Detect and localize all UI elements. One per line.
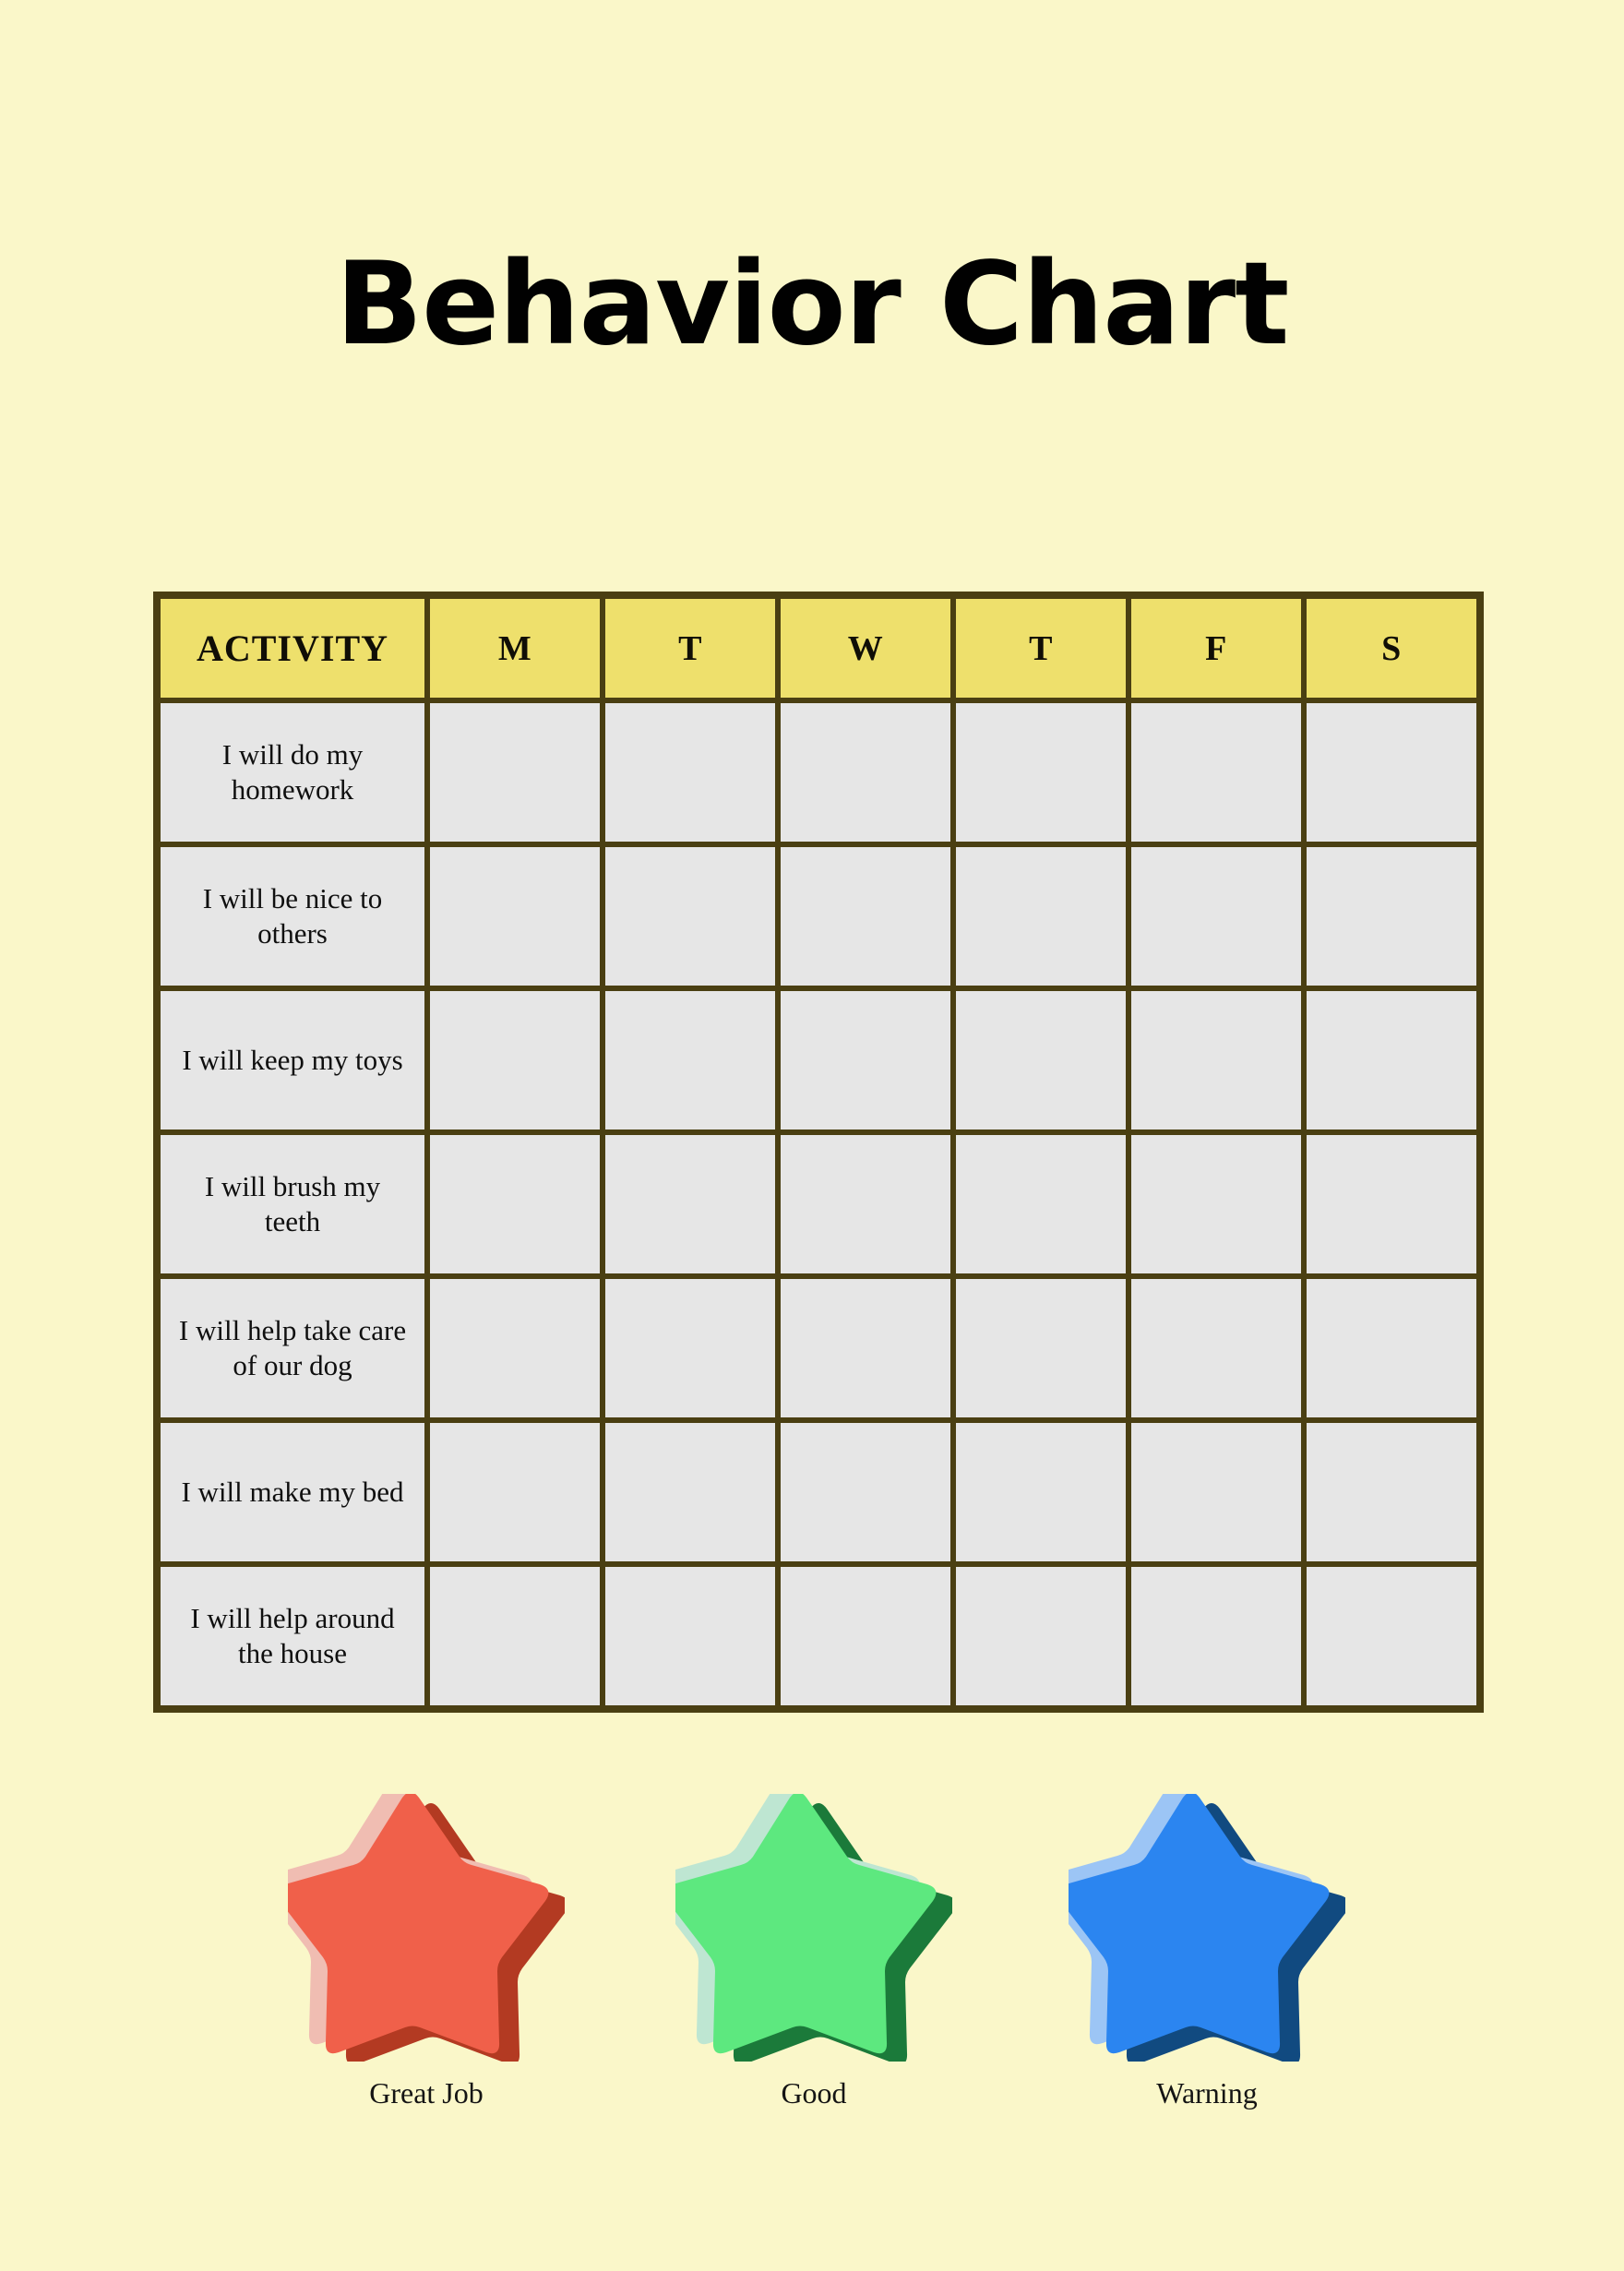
checkbox-cell-thu[interactable]	[953, 844, 1128, 988]
checkbox-cell-fri[interactable]	[1128, 1276, 1304, 1420]
table-row: I will brush my teeth	[158, 1132, 1479, 1276]
table-header-row: ACTIVITY M T W T F S	[158, 596, 1479, 700]
star-icon	[1069, 1794, 1345, 2062]
column-header-tuesday: T	[603, 596, 778, 700]
checkbox-cell-fri[interactable]	[1128, 1564, 1304, 1708]
checkbox-cell-thu[interactable]	[953, 1132, 1128, 1276]
checkbox-cell-fri[interactable]	[1128, 1132, 1304, 1276]
star-icon	[288, 1794, 565, 2062]
checkbox-cell-wed[interactable]	[778, 988, 953, 1132]
checkbox-cell-fri[interactable]	[1128, 844, 1304, 988]
checkbox-cell-sat[interactable]	[1304, 700, 1479, 844]
activity-label: I will help take care of our dog	[158, 1276, 427, 1420]
checkbox-cell-wed[interactable]	[778, 1564, 953, 1708]
column-header-wednesday: W	[778, 596, 953, 700]
behavior-chart-page: Behavior Chart ACTIVITY M T W T F S	[0, 0, 1624, 2271]
column-header-saturday: S	[1304, 596, 1479, 700]
checkbox-cell-thu[interactable]	[953, 1420, 1128, 1564]
checkbox-cell-fri[interactable]	[1128, 988, 1304, 1132]
checkbox-cell-fri[interactable]	[1128, 1420, 1304, 1564]
checkbox-cell-fri[interactable]	[1128, 700, 1304, 844]
column-header-friday: F	[1128, 596, 1304, 700]
checkbox-cell-tue[interactable]	[603, 988, 778, 1132]
checkbox-cell-sat[interactable]	[1304, 988, 1479, 1132]
legend-item-good: Good	[648, 1794, 980, 2108]
checkbox-cell-sat[interactable]	[1304, 1276, 1479, 1420]
legend-label: Warning	[1041, 2078, 1373, 2108]
checkbox-cell-mon[interactable]	[427, 1132, 603, 1276]
legend-label: Great Job	[260, 2078, 592, 2108]
legend-label: Good	[648, 2078, 980, 2108]
behavior-table-container: ACTIVITY M T W T F S I will do my homewo…	[153, 592, 1476, 1713]
table-row: I will be nice to others	[158, 844, 1479, 988]
checkbox-cell-tue[interactable]	[603, 700, 778, 844]
activity-label: I will help around the house	[158, 1564, 427, 1708]
activity-label: I will make my bed	[158, 1420, 427, 1564]
checkbox-cell-wed[interactable]	[778, 844, 953, 988]
checkbox-cell-thu[interactable]	[953, 988, 1128, 1132]
table-row: I will do my homework	[158, 700, 1479, 844]
checkbox-cell-wed[interactable]	[778, 1132, 953, 1276]
checkbox-cell-sat[interactable]	[1304, 1420, 1479, 1564]
checkbox-cell-thu[interactable]	[953, 1276, 1128, 1420]
checkbox-cell-tue[interactable]	[603, 1276, 778, 1420]
table-body: I will do my homework I will be nice to …	[158, 700, 1479, 1708]
activity-label: I will brush my teeth	[158, 1132, 427, 1276]
checkbox-cell-sat[interactable]	[1304, 844, 1479, 988]
checkbox-cell-mon[interactable]	[427, 700, 603, 844]
checkbox-cell-mon[interactable]	[427, 1420, 603, 1564]
checkbox-cell-wed[interactable]	[778, 1276, 953, 1420]
checkbox-cell-mon[interactable]	[427, 1276, 603, 1420]
checkbox-cell-tue[interactable]	[603, 1420, 778, 1564]
star-icon	[675, 1794, 952, 2062]
checkbox-cell-sat[interactable]	[1304, 1564, 1479, 1708]
checkbox-cell-sat[interactable]	[1304, 1132, 1479, 1276]
column-header-thursday: T	[953, 596, 1128, 700]
table-header: ACTIVITY M T W T F S	[158, 596, 1479, 700]
checkbox-cell-wed[interactable]	[778, 1420, 953, 1564]
table-row: I will make my bed	[158, 1420, 1479, 1564]
checkbox-cell-wed[interactable]	[778, 700, 953, 844]
checkbox-cell-tue[interactable]	[603, 1132, 778, 1276]
legend-item-great-job: Great Job	[260, 1794, 592, 2108]
checkbox-cell-tue[interactable]	[603, 844, 778, 988]
checkbox-cell-mon[interactable]	[427, 844, 603, 988]
checkbox-cell-thu[interactable]	[953, 700, 1128, 844]
column-header-activity: ACTIVITY	[158, 596, 427, 700]
page-title: Behavior Chart	[0, 247, 1624, 362]
checkbox-cell-mon[interactable]	[427, 1564, 603, 1708]
activity-label: I will be nice to others	[158, 844, 427, 988]
table-row: I will keep my toys	[158, 988, 1479, 1132]
table-row: I will help take care of our dog	[158, 1276, 1479, 1420]
checkbox-cell-thu[interactable]	[953, 1564, 1128, 1708]
table-row: I will help around the house	[158, 1564, 1479, 1708]
legend: Great Job Good	[0, 1794, 1624, 2181]
column-header-monday: M	[427, 596, 603, 700]
behavior-table: ACTIVITY M T W T F S I will do my homewo…	[153, 592, 1484, 1713]
activity-label: I will keep my toys	[158, 988, 427, 1132]
checkbox-cell-tue[interactable]	[603, 1564, 778, 1708]
checkbox-cell-mon[interactable]	[427, 988, 603, 1132]
activity-label: I will do my homework	[158, 700, 427, 844]
legend-item-warning: Warning	[1041, 1794, 1373, 2108]
